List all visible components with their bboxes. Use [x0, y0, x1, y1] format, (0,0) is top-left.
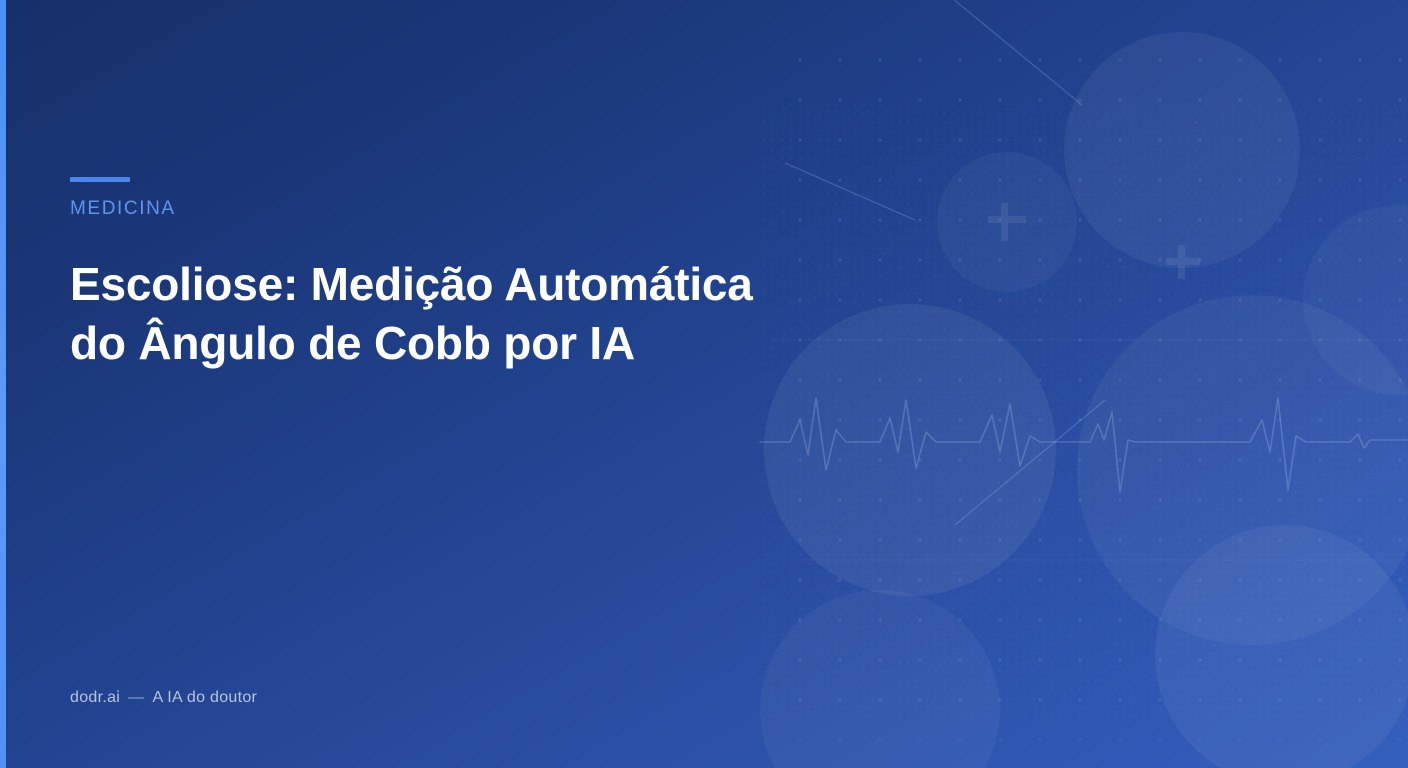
footer-tagline: A IA do doutor: [152, 689, 257, 706]
page-title: Escoliose: Medição Automática do Ângulo …: [70, 255, 810, 373]
category-kicker: MEDICINA: [70, 198, 176, 220]
fine-dot-texture: [760, 100, 1408, 720]
left-accent-strip: [0, 0, 6, 768]
ecg-waveform: [760, 398, 1408, 492]
footer-brand: dodr.ai: [70, 689, 120, 706]
slide-canvas: MEDICINA Escoliose: Medição Automática d…: [0, 0, 1408, 768]
guide-line-group: [770, 340, 1408, 560]
dot-grid-pattern: [780, 40, 1408, 740]
plus-mark-group: [988, 203, 1200, 279]
decorative-circle-group: [760, 32, 1408, 768]
footer-credit: dodr.ai—A IA do doutor: [70, 689, 257, 707]
slide-content: MEDICINA Escoliose: Medição Automática d…: [70, 0, 830, 768]
diagonal-line-group: [785, 0, 1105, 525]
accent-bar: [70, 177, 130, 182]
footer-separator: —: [128, 689, 144, 707]
